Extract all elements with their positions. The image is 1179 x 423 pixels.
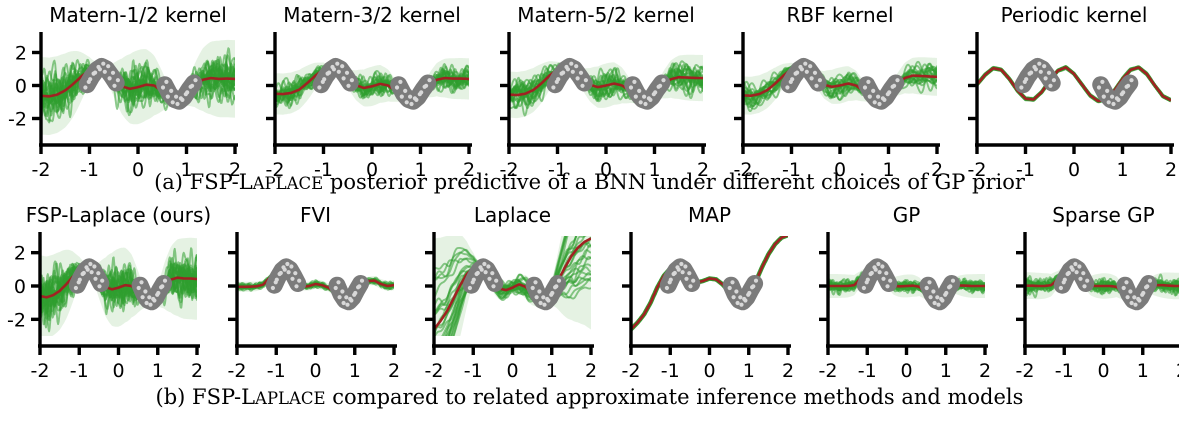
data-point-dot — [1137, 298, 1141, 302]
data-point-dot — [1130, 301, 1134, 305]
data-point-dot — [1037, 62, 1041, 66]
data-point-dot — [1148, 279, 1152, 283]
data-point-dot — [1019, 85, 1023, 89]
data-point-dot — [1081, 271, 1085, 275]
data-point-dot — [1145, 284, 1149, 288]
data-point-dot — [1122, 286, 1126, 290]
figure-container: -2-1012-202Matern-1/2 kernel-2-1012Mater… — [0, 0, 1179, 423]
data-point-dot — [1024, 77, 1028, 81]
data-point-dot — [1100, 80, 1104, 84]
data-point-dot — [1044, 76, 1048, 80]
data-point-dot — [1128, 289, 1132, 293]
caption-b-rest: compared to related approximate inferenc… — [326, 385, 1024, 409]
data-point-dot — [1034, 67, 1038, 71]
caption-b: (b) FSP-LAPLACE compared to related appr… — [0, 385, 1179, 409]
data-point-dot — [1116, 98, 1120, 102]
caption-a-smallcaps: APLACE — [253, 174, 324, 193]
panel-title: Periodic kernel — [1001, 3, 1148, 27]
data-point-dot — [1059, 286, 1063, 290]
data-point-dot — [1067, 271, 1071, 275]
data-point-dot — [1063, 278, 1067, 282]
figure-row-b: -2-1012-202FSP-Laplace (ours)-2-1012FVI-… — [0, 205, 1179, 380]
data-point-dot — [1029, 71, 1033, 75]
data-point-dot — [1082, 284, 1086, 288]
x-tick-label: -2 — [1016, 360, 1035, 382]
data-point-dot — [1071, 268, 1075, 272]
data-point-dot — [1073, 262, 1077, 266]
x-tick-label: 0 — [1097, 360, 1109, 382]
caption-b-smallcaps: APLACE — [255, 389, 326, 408]
axes: -2-1012 — [968, 32, 1178, 181]
data-point-dot — [1129, 78, 1133, 82]
x-tick-label: -1 — [1055, 360, 1074, 382]
data-point-dot — [1111, 102, 1115, 106]
data-point-dot — [1121, 90, 1125, 94]
data-point-dot — [1039, 70, 1043, 74]
data-point-dot — [1075, 270, 1079, 274]
plot-area — [1025, 262, 1179, 307]
data-point-dot — [1042, 64, 1046, 68]
caption-a-rest: posterior predictive of a BNN under diff… — [323, 170, 1025, 194]
caption-a-prefix: (a) FSP-L — [154, 170, 253, 194]
data-point-dot — [1133, 303, 1137, 307]
data-point-dot — [1102, 95, 1106, 99]
x-tick-label: 1 — [1137, 360, 1149, 382]
data-point-dot — [1048, 84, 1052, 88]
caption-b-prefix: (b) FSP-L — [156, 385, 255, 409]
panel-title: Sparse GP — [1052, 203, 1155, 227]
data-point-dot — [1077, 264, 1081, 268]
data-point-dot — [1141, 291, 1145, 295]
data-point-dot — [1110, 95, 1114, 99]
data-point-dot — [1078, 277, 1082, 281]
caption-a: (a) FSP-LAPLACE posterior predictive of … — [0, 170, 1179, 194]
data-point-dot — [1097, 85, 1101, 89]
figure-row-a: -2-1012-202Matern-1/2 kernel-2-1012Mater… — [0, 0, 1179, 170]
axes: -2-1012 — [1016, 232, 1179, 382]
plot-area — [977, 62, 1171, 107]
data-point-dot — [1105, 89, 1109, 93]
data-point-dot — [1085, 279, 1089, 283]
data-point-dot — [1126, 295, 1130, 299]
data-point-dot — [1126, 84, 1130, 88]
data-point-dot — [1047, 71, 1051, 75]
data-point-dot — [1052, 78, 1056, 82]
data-point-dot — [1107, 100, 1111, 104]
data-point-dot — [1132, 295, 1136, 299]
data-point-dot — [1124, 280, 1128, 284]
